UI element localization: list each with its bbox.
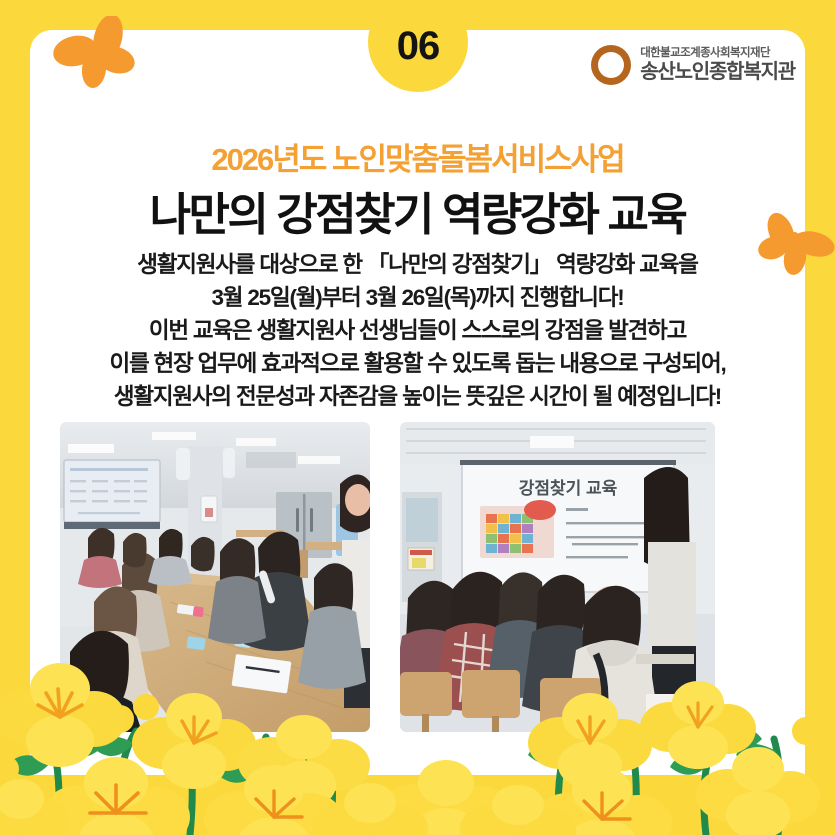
body-line-4: 이를 현장 업무에 효과적으로 활용할 수 있도록 돕는 내용으로 구성되어, <box>30 347 805 380</box>
photo-lecture-room: 강점찾기 교육 <box>400 422 715 732</box>
body-line-1: 생활지원사를 대상으로 한 「나만의 강점찾기」 역량강화 교육을 <box>30 248 805 281</box>
body-paragraph: 생활지원사를 대상으로 한 「나만의 강점찾기」 역량강화 교육을 3월 25일… <box>30 248 805 413</box>
page-number-text: 06 <box>397 24 440 69</box>
photo-discussion-room <box>60 422 370 732</box>
butterfly-icon <box>48 16 140 96</box>
logo-text-block: 대한불교조계종사회복지재단 송산노인종합복지관 <box>640 48 795 83</box>
slide-title-text: 강점찾기 교육 <box>519 478 618 498</box>
foundation-name: 대한불교조계종사회복지재단 <box>640 48 795 60</box>
page-title: 나만의 강점찾기 역량강화 교육 <box>30 178 805 243</box>
photo-discussion-room-image <box>60 422 370 732</box>
bottom-yellow-band <box>0 775 835 835</box>
center-name: 송산노인종합복지관 <box>640 62 795 82</box>
card-news-poster: 2026년도 노인맞춤돌봄서비스사업 나만의 강점찾기 역량강화 교육 생활지원… <box>0 0 835 835</box>
content-card: 2026년도 노인맞춤돌봄서비스사업 나만의 강점찾기 역량강화 교육 생활지원… <box>30 30 805 805</box>
page-subtitle: 2026년도 노인맞춤돌봄서비스사업 <box>30 134 805 179</box>
circle-three-dots-icon <box>591 45 631 85</box>
organization-logo: 대한불교조계종사회복지재단 송산노인종합복지관 <box>591 45 795 85</box>
butterfly-icon <box>757 210 835 282</box>
photo-lecture-room-image: 강점찾기 교육 <box>400 422 715 732</box>
body-line-2: 3월 25일(월)부터 3월 26일(목)까지 진행합니다! <box>30 281 805 314</box>
body-line-3: 이번 교육은 생활지원사 선생님들이 스스로의 강점을 발견하고 <box>30 314 805 347</box>
body-line-5: 생활지원사의 전문성과 자존감을 높이는 뜻깊은 시간이 될 예정입니다! <box>30 380 805 413</box>
